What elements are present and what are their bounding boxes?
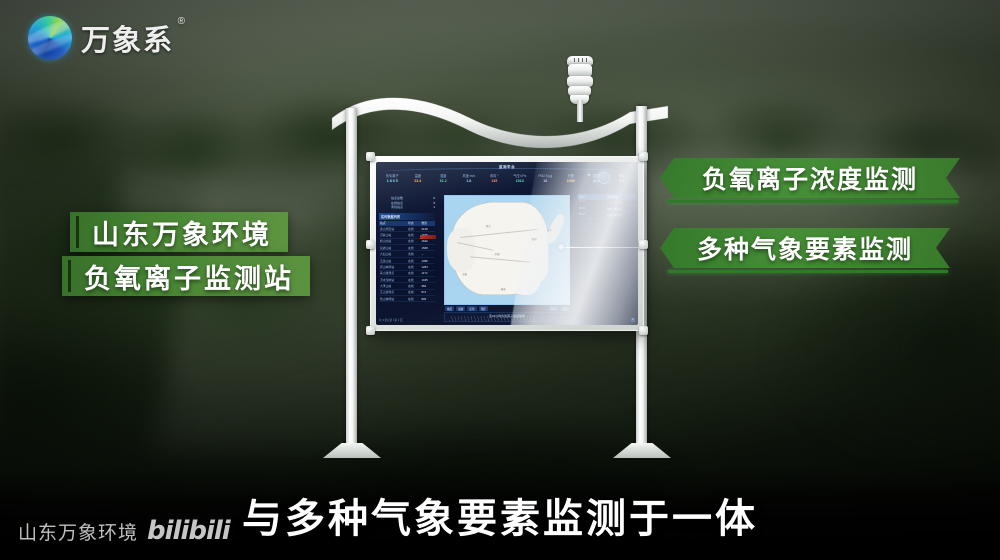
table-cell: 806 (421, 296, 436, 302)
callout-right-1-underline (668, 200, 958, 203)
summary-list: 站点总数6在线站点5离线站点1 (391, 196, 435, 210)
alert-page-number[interactable]: 1 (631, 318, 635, 322)
header-wave-decor (382, 168, 632, 176)
table-cell: 鲁山林场站 (379, 296, 407, 302)
kpi-value: 23.4 (406, 179, 431, 184)
map-label: 越南 (501, 287, 506, 291)
map-tool-button[interactable]: 图层 (445, 306, 454, 311)
summary-value: 1 (433, 205, 435, 210)
table-row[interactable]: 鲁山林场站在线806 (379, 296, 435, 302)
alert-column-header: 告警内容 (607, 195, 635, 199)
map-label: 中国 (495, 252, 500, 256)
kpi-value: 1013 (508, 179, 533, 184)
callout-right-2-underline (668, 270, 948, 273)
kpi-value: 0.0 (610, 179, 635, 184)
display-panel: 监测平台 负氧离子1 8 6 5温度23.4湿度61.2风速 m/s1.8风向 … (370, 156, 644, 331)
kpi-value: 2450 (559, 179, 584, 184)
panel-bolt (366, 240, 375, 249)
callout-right-2: 多种气象要素监测 (660, 228, 950, 268)
panel-bolt (366, 152, 375, 161)
alert-footer: 共 3 条记录 / 第 1 页 1 (379, 318, 635, 322)
sensor-vents (574, 58, 588, 62)
alert-time: 08:37 (579, 213, 607, 217)
watermark-platform: bilibili (147, 516, 230, 546)
map-label: 蒙古 (486, 224, 491, 228)
panel-bolt (639, 326, 648, 335)
brand-logo: 万象系 ® (28, 16, 174, 60)
data-table[interactable]: 站点状态数值 泰山景区站在线2130沂蒙山站在线1875崂山北站在线1642昆嵛… (379, 221, 435, 303)
alert-time: 10:24 (579, 200, 607, 204)
table-section-title: 实时数据列表 (379, 213, 435, 220)
monitoring-kiosk: 监测平台 负氧离子1 8 6 5温度23.4湿度61.2风速 m/s1.8风向 … (318, 58, 682, 458)
callout-left-2: 负氧离子监测站 (62, 256, 310, 296)
watermark: 山东万象环境 bilibili (18, 516, 230, 546)
alert-text: 设备自检通过 (607, 213, 635, 217)
kpi-card: 负氧离子1 8 6 5 (380, 174, 405, 184)
callout-left-1: 山东万象环境 (70, 212, 288, 252)
china-map[interactable]: 中国 蒙古 韩国 日本 越南 印度 (444, 195, 570, 305)
panel-bolt (639, 240, 648, 249)
alert-header-row: 时间告警内容 (578, 194, 636, 200)
base-plate-right (613, 443, 671, 458)
map-toolbar[interactable]: 图层缩放定位测距导出全屏 (440, 305, 574, 311)
panel-bolt (366, 326, 375, 335)
kpi-value: 1 8 6 5 (380, 179, 405, 184)
map-landmass-south (505, 252, 542, 295)
globe-icon (28, 16, 72, 60)
watermark-company: 山东万象环境 (18, 518, 138, 545)
alert-column-header: 时间 (579, 195, 607, 199)
base-plate-left (323, 443, 381, 458)
right-column: 时间告警内容 10:24九仙山站离线09:51数据上报延迟08:37设备自检通过… (576, 192, 638, 325)
header-globe-icon (596, 170, 612, 186)
kpi-value: 61.2 (431, 179, 456, 184)
dashboard-screen[interactable]: 监测平台 负氧离子1 8 6 5温度23.4湿度61.2风速 m/s1.8风向 … (376, 162, 638, 325)
map-label: 韩国 (532, 237, 537, 241)
callout-right-1: 负氧离子浓度监测 (660, 158, 960, 198)
accent-bar (420, 235, 436, 239)
brand-name: 万象系 ® (81, 17, 174, 59)
alert-footer-text: 共 3 条记录 / 第 1 页 (379, 318, 403, 322)
dashboard-body: 站点总数6在线站点5离线站点1 实时数据列表 站点状态数值 泰山景区站在线213… (376, 192, 638, 325)
kpi-card: 温度23.4 (406, 174, 431, 184)
panel-bolt (639, 152, 648, 161)
alert-list: 10:24九仙山站离线09:51数据上报延迟08:37设备自检通过 (578, 200, 636, 219)
header-dot-icon (588, 174, 590, 176)
support-post-left (346, 108, 357, 448)
map-tool-button[interactable]: 缩放 (456, 306, 465, 311)
wave-arch (330, 92, 670, 152)
map-label: 日本 (547, 228, 552, 232)
alert-row[interactable]: 08:37设备自检通过 (578, 212, 636, 218)
table-cell: 在线 (407, 296, 420, 302)
summary-label: 离线站点 (391, 205, 403, 210)
left-column: 站点总数6在线站点5离线站点1 实时数据列表 站点状态数值 泰山景区站在线213… (376, 192, 438, 325)
alert-text: 九仙山站离线 (607, 200, 635, 204)
map-tool-button[interactable]: 定位 (467, 306, 476, 311)
registered-mark: ® (178, 16, 187, 27)
map-tool-button[interactable]: 导出 (549, 306, 558, 311)
kpi-value: 135 (482, 179, 507, 184)
map-label: 印度 (462, 272, 467, 276)
alert-time: 09:51 (579, 207, 607, 211)
map-tool-button[interactable]: 测距 (479, 306, 488, 311)
alert-text: 数据上报延迟 (607, 207, 635, 211)
center-column: 中国 蒙古 韩国 日本 越南 印度 图层缩放定位测距导出全屏 近24小时负氧离子… (438, 192, 576, 325)
kpi-card: 雨量0.0 (610, 174, 635, 184)
kpi-value: 1.8 (457, 179, 482, 184)
map-tool-button[interactable]: 全屏 (560, 306, 569, 311)
summary-row: 离线站点1 (391, 205, 435, 210)
kpi-value: 18 (533, 179, 558, 184)
